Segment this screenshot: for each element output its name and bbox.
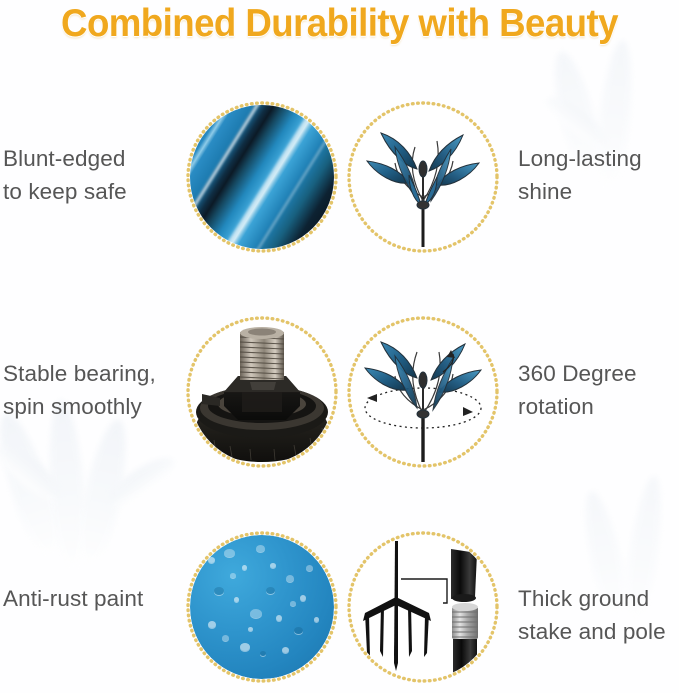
blue-blade-closeup-photo [190,105,334,249]
page-title: Combined Durability with Beauty [20,2,658,52]
product-feature-infographic: Combined Durability with Beauty Blunt-ed… [0,0,679,693]
feature-image-stake-and-pole [347,531,499,683]
feature-row-anti-rust: Anti-rust paint [0,527,679,692]
feature-image-wind-spinner [347,101,499,253]
feature-row-stable-bearing: Stable bearing, spin smoothly [0,312,679,477]
feature-row-blunt-edged: Blunt-edged to keep safe [0,97,679,262]
feature-image-paint-surface [186,531,338,683]
feature-label-thick-stake-pole: Thick ground stake and pole [518,582,679,648]
bearing-bolt-closeup-photo [190,320,334,464]
blue-wind-spinner-illustration [351,105,495,249]
spinner-rotation-diagram [351,320,495,464]
feature-label-long-lasting-shine: Long-lasting shine [518,142,679,208]
feature-label-blunt-edged: Blunt-edged to keep safe [3,142,183,208]
feature-label-stable-bearing: Stable bearing, spin smoothly [3,357,183,423]
feature-label-360-rotation: 360 Degree rotation [518,357,679,423]
feature-label-anti-rust-paint: Anti-rust paint [3,582,183,615]
blue-paint-waterdrops-photo [190,535,334,679]
feature-image-rotation-diagram [347,316,499,468]
feature-image-bearing-closeup [186,316,338,468]
ground-stake-and-pole-illustration [351,535,495,679]
feature-image-blue-blade-closeup [186,101,338,253]
